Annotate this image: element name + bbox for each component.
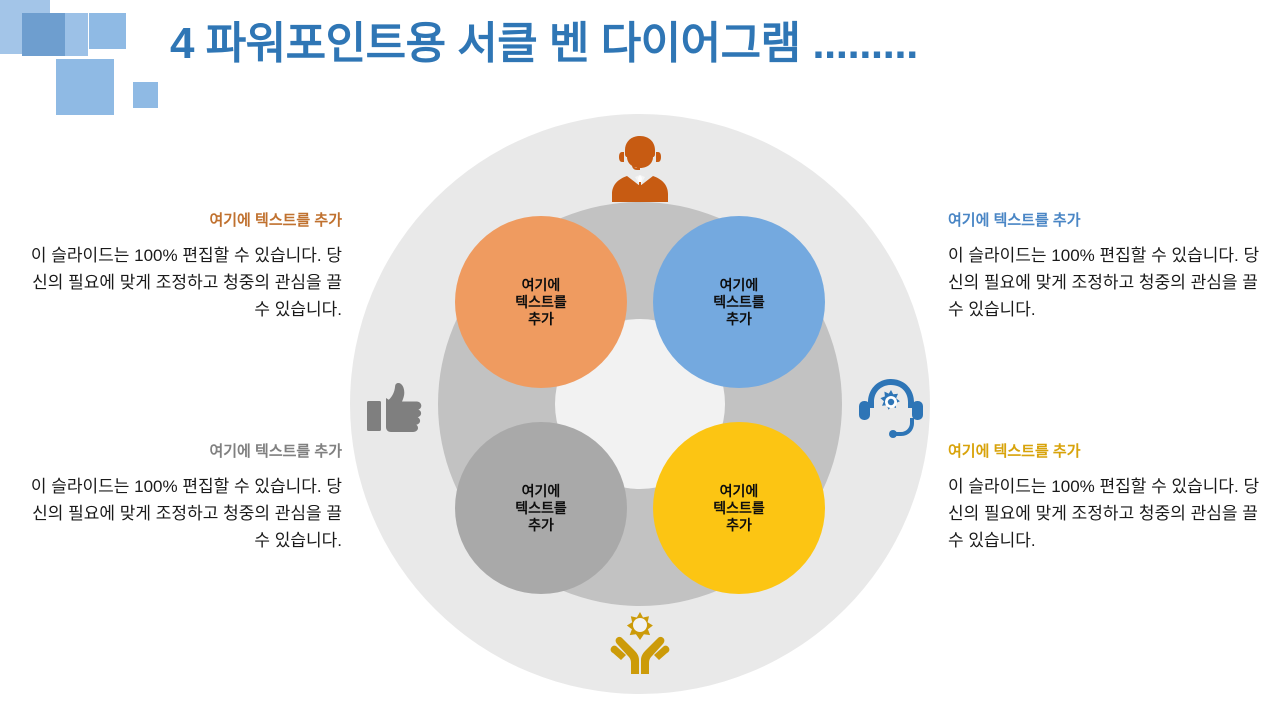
venn-lobe-blue[interactable]: 여기에 텍스트를 추가 [653, 216, 825, 388]
text-block-top-left: 여기에 텍스트를 추가 이 슬라이드는 100% 편집할 수 있습니다. 당신의… [24, 212, 342, 323]
venn-lobe-orange[interactable]: 여기에 텍스트를 추가 [455, 216, 627, 388]
venn-lobe-label: 여기에 텍스트를 추가 [515, 277, 567, 328]
text-block-body: 이 슬라이드는 100% 편집할 수 있습니다. 당신의 필요에 맞게 조정하고… [948, 242, 1266, 323]
text-block-heading: 여기에 텍스트를 추가 [948, 212, 1266, 230]
text-block-top-right: 여기에 텍스트를 추가 이 슬라이드는 100% 편집할 수 있습니다. 당신의… [948, 212, 1266, 323]
hands-gear-icon [608, 610, 672, 676]
deco-square-overlap [22, 13, 65, 56]
page-title: 4 파워포인트용 서클 벤 다이어그램 ......... [170, 8, 1260, 80]
venn-lobe-label: 여기에 텍스트를 추가 [713, 277, 765, 328]
venn-diagram: 여기에 텍스트를 추가 여기에 텍스트를 추가 여기에 텍스트를 추가 여기에 … [350, 114, 930, 694]
text-block-body: 이 슬라이드는 100% 편집할 수 있습니다. 당신의 필요에 맞게 조정하고… [24, 242, 342, 323]
deco-square-4 [56, 59, 114, 115]
headset-agent-icon [608, 132, 672, 204]
venn-lobe-yellow[interactable]: 여기에 텍스트를 추가 [653, 422, 825, 594]
deco-square-5 [133, 82, 158, 108]
text-block-bottom-left: 여기에 텍스트를 추가 이 슬라이드는 100% 편집할 수 있습니다. 당신의… [24, 443, 342, 554]
text-block-bottom-right: 여기에 텍스트를 추가 이 슬라이드는 100% 편집할 수 있습니다. 당신의… [948, 443, 1266, 554]
text-block-heading: 여기에 텍스트를 추가 [948, 443, 1266, 461]
text-block-heading: 여기에 텍스트를 추가 [24, 212, 342, 230]
venn-lobe-gray[interactable]: 여기에 텍스트를 추가 [455, 422, 627, 594]
text-block-body: 이 슬라이드는 100% 편집할 수 있습니다. 당신의 필요에 맞게 조정하고… [948, 473, 1266, 554]
venn-lobe-label: 여기에 텍스트를 추가 [713, 483, 765, 534]
thumbs-up-icon [364, 372, 432, 436]
venn-lobe-label: 여기에 텍스트를 추가 [515, 483, 567, 534]
text-block-heading: 여기에 텍스트를 추가 [24, 443, 342, 461]
text-block-body: 이 슬라이드는 100% 편집할 수 있습니다. 당신의 필요에 맞게 조정하고… [24, 473, 342, 554]
headset-gear-icon [855, 374, 927, 438]
deco-square-2 [89, 13, 126, 49]
